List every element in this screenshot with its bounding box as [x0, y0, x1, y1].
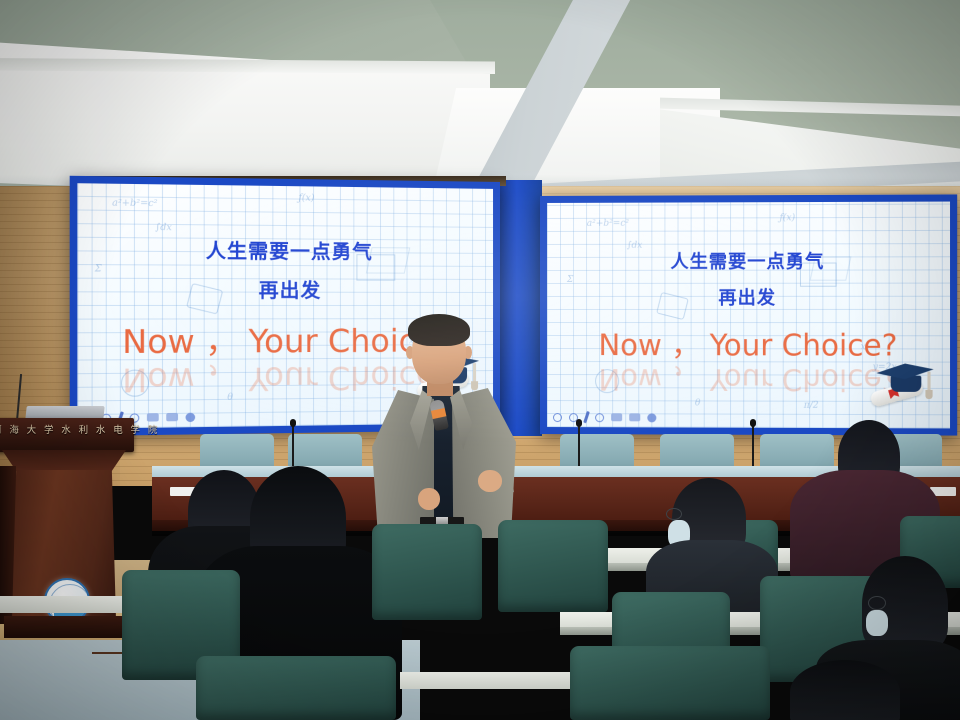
- lectern-neck: [2, 450, 126, 472]
- slide-subtitle: Now ， Your Choice?: [547, 322, 950, 365]
- lectern-label: 河 海 大 学 水 利 水 电 学 院: [0, 422, 120, 436]
- audience-chair: [498, 520, 608, 612]
- pen-icon[interactable]: [583, 411, 590, 423]
- slide-title-line2: 再出发: [77, 274, 493, 302]
- table-microphone: [578, 424, 580, 472]
- sketch-mark: a²+b²=c²: [112, 198, 157, 209]
- rectangle-icon[interactable]: [629, 413, 640, 421]
- slide-title-line1: 人生需要一点勇气: [547, 247, 950, 274]
- table-microphone: [752, 424, 754, 472]
- presenter-hair: [408, 314, 470, 346]
- rectangle-icon[interactable]: [611, 413, 622, 421]
- presenter-right-hand: [478, 470, 502, 492]
- slide-toolbar[interactable]: [553, 411, 656, 423]
- lecture-hall-photo: a²+b²=c² ƒ(x) ∫dx Σ x² y=2x θ 人生需要一点勇气 再…: [0, 0, 960, 720]
- sketch-mark: ∫dx: [155, 223, 172, 234]
- projection-screen-right[interactable]: a²+b²=c² ƒ(x) ∫dx Σ x² y=2x θ π/2 人生需要一点…: [540, 194, 957, 435]
- face-mask: [866, 610, 888, 636]
- rectangle-icon[interactable]: [147, 413, 159, 421]
- lectern-top: 河 海 大 学 水 利 水 电 学 院: [0, 418, 134, 452]
- audience-chair: [196, 656, 396, 720]
- glasses-icon: [666, 508, 682, 520]
- audience-chair: [570, 646, 770, 720]
- slide-title-line2: 再出发: [547, 283, 950, 309]
- slide-content-right: a²+b²=c² ƒ(x) ∫dx Σ x² y=2x θ π/2 人生需要一点…: [547, 202, 950, 429]
- rectangle-icon[interactable]: [166, 413, 178, 421]
- graduation-cap-icon: [870, 359, 942, 412]
- glasses-icon: [868, 596, 886, 610]
- table-microphone: [292, 424, 294, 472]
- circle-icon[interactable]: [186, 412, 196, 421]
- slide-title-line1: 人生需要一点勇气: [77, 235, 493, 265]
- sketch-mark: ƒ(x): [298, 193, 314, 203]
- lectern: 河 海 大 学 水 利 水 电 学 院: [0, 418, 132, 648]
- sketch-mark: ƒ(x): [779, 213, 795, 223]
- circle-icon[interactable]: [553, 413, 562, 422]
- target-icon[interactable]: [595, 413, 604, 422]
- attendee-left-front-head: [790, 660, 900, 720]
- cap-tassel: [927, 372, 930, 392]
- presenter-left-hand: [418, 488, 440, 510]
- circle-icon[interactable]: [647, 413, 656, 422]
- audience-chair: [372, 524, 482, 620]
- sketch-mark: a²+b²=c²: [587, 218, 629, 228]
